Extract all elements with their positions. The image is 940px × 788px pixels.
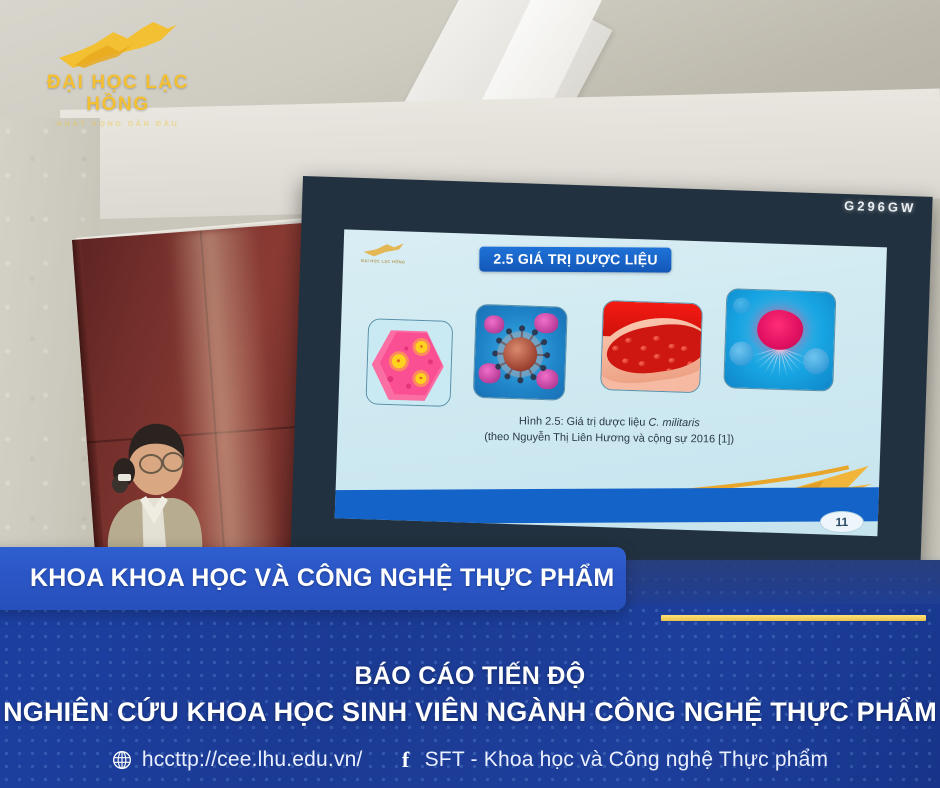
lac-hong-bird-logo-icon (59, 16, 177, 70)
footer-website-text: hccttp://cee.lhu.edu.vn/ (142, 748, 363, 772)
slide-bird-icon (363, 242, 403, 257)
projector-screen-frame: G296GW ĐẠI HỌC LẠC HỒNG 2.5 GIÁ TRỊ DƯỢC… (290, 176, 933, 597)
slide-logo-label: ĐẠI HỌC LẠC HỒNG (357, 258, 409, 265)
globe-icon (112, 750, 132, 770)
footer-facebook-text: SFT - Khoa học và Công nghệ Thực phẩm (425, 748, 829, 772)
poster-root: G296GW ĐẠI HỌC LẠC HỒNG 2.5 GIÁ TRỊ DƯỢC… (0, 0, 940, 788)
facebook-icon: f (397, 750, 415, 770)
footer-contact-row: hccttp://cee.lhu.edu.vn/ f SFT - Khoa họ… (0, 748, 940, 772)
university-name: ĐẠI HỌC LẠC HỒNG (18, 72, 218, 116)
slide-caption-prefix: Hình 2.5: Giá trị dược liệu (519, 415, 649, 428)
gold-accent-rule (661, 615, 926, 621)
slide-title: 2.5 GIÁ TRỊ DƯỢC LIỆU (479, 247, 672, 273)
university-logo: ĐẠI HỌC LẠC HỒNG KHÁT VỌNG DẪN ĐẦU (18, 16, 218, 108)
faculty-banner: KHOA KHOA HỌC VÀ CÔNG NGHỆ THỰC PHẨM (0, 547, 626, 610)
subheadline: NGHIÊN CỨU KHOA HỌC SINH VIÊN NGÀNH CÔNG… (0, 697, 940, 728)
presentation-slide: ĐẠI HỌC LẠC HỒNG 2.5 GIÁ TRỊ DƯỢC LIỆU (335, 229, 887, 536)
university-tagline: KHÁT VỌNG DẪN ĐẦU (18, 119, 218, 128)
slide-caption-species: C. militaris (648, 417, 699, 430)
blood-vessel-red-cells (600, 300, 703, 393)
virus-particle-microscopy (473, 304, 568, 401)
pink-hexagon-bacteria-illustration (365, 318, 453, 407)
slide-footer-bar (335, 487, 887, 524)
slide-thumbnail-row (338, 275, 885, 425)
cancer-cell-immune-attack (723, 288, 836, 392)
slide-caption: Hình 2.5: Giá trị dược liệu C. militaris… (338, 411, 881, 449)
headline: BÁO CÁO TIẾN ĐỘ (0, 662, 940, 691)
footer-facebook[interactable]: f SFT - Khoa học và Công nghệ Thực phẩm (397, 748, 829, 772)
screen-watermark: G296GW (844, 198, 917, 215)
footer-website[interactable]: hccttp://cee.lhu.edu.vn/ (112, 748, 363, 772)
slide-number-badge: 11 (820, 511, 864, 533)
faculty-banner-label: KHOA KHOA HỌC VÀ CÔNG NGHỆ THỰC PHẨM (0, 564, 614, 593)
slide-university-logo: ĐẠI HỌC LẠC HỒNG (357, 242, 410, 270)
